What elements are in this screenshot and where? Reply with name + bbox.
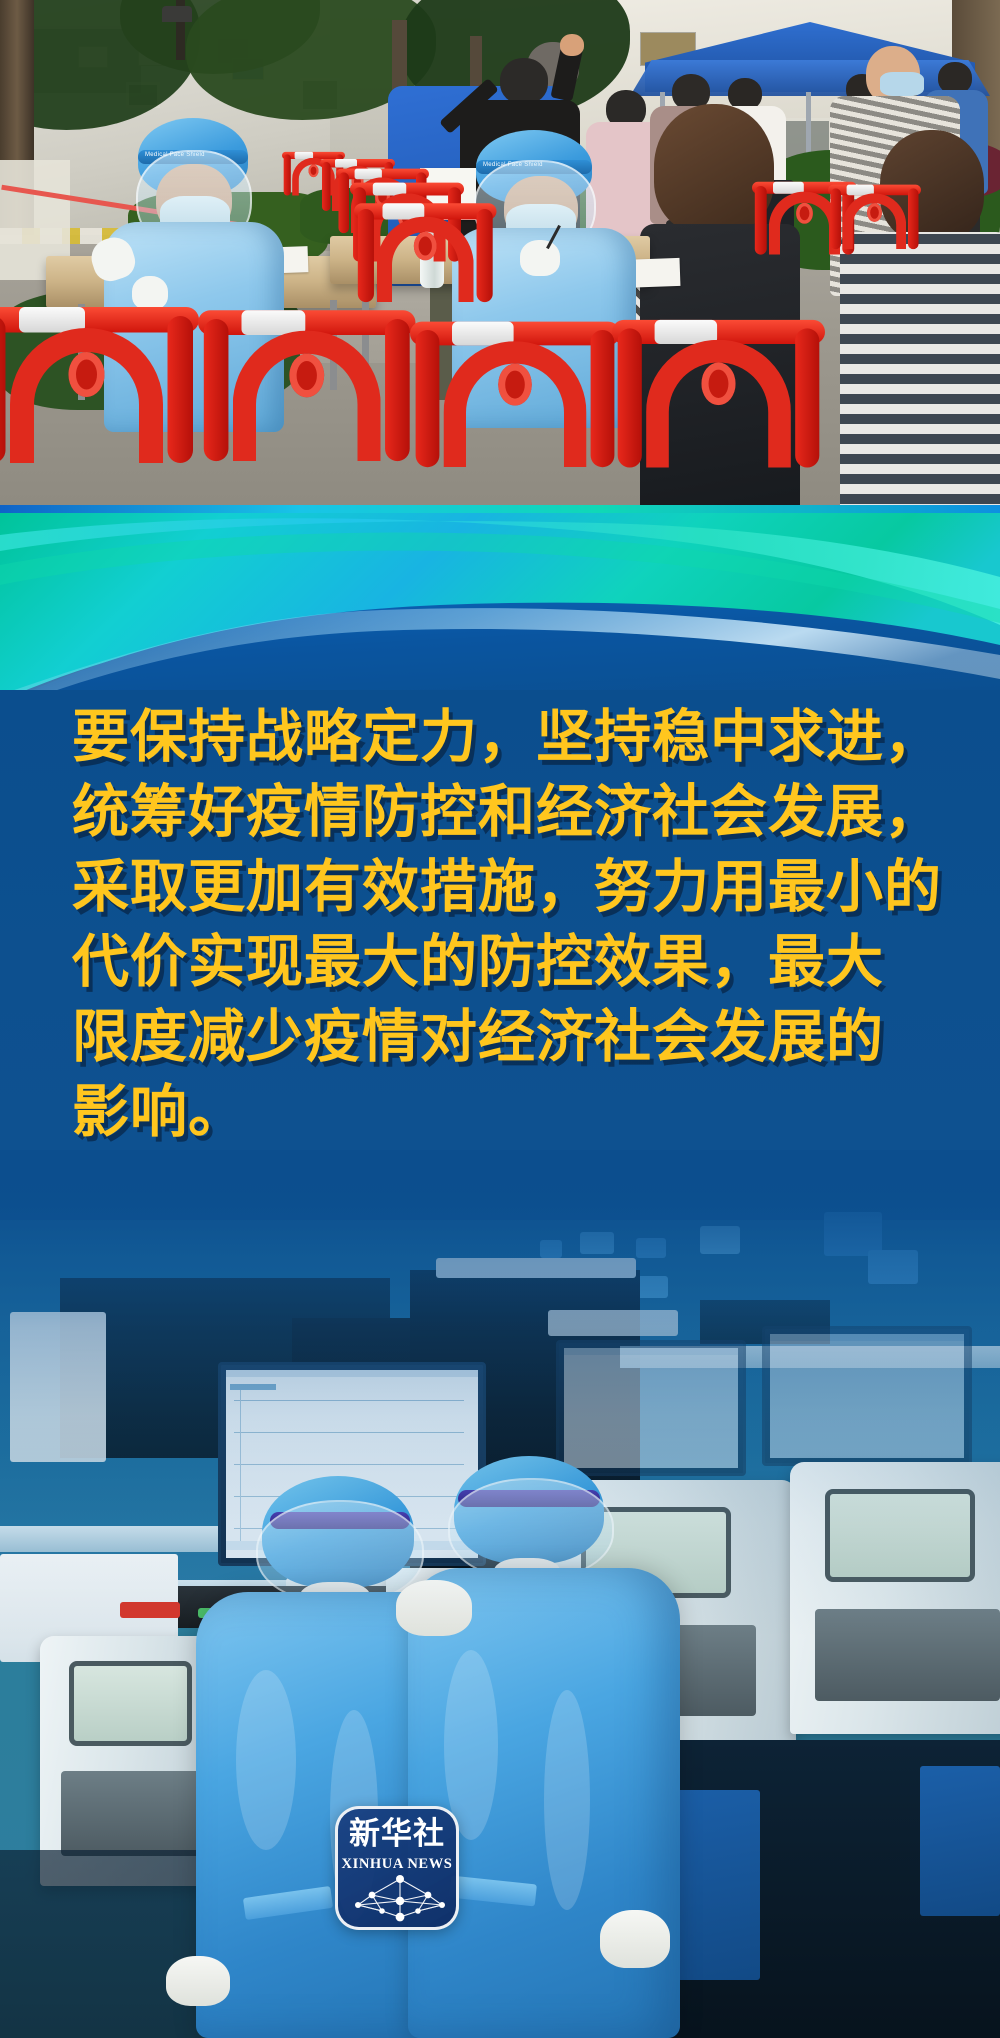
red-crowd-barrier bbox=[828, 176, 921, 249]
quote-line: 代价实现最大的防控效果，最大 bbox=[72, 925, 952, 1000]
quote-line: 影响。 bbox=[72, 1075, 952, 1150]
bottom-photo-pcr-laboratory bbox=[0, 1150, 1000, 2038]
red-crowd-barrier bbox=[612, 300, 825, 468]
xinhua-news-logo: 新华社 XINHUA NEWS bbox=[335, 1806, 459, 1930]
quote-line: 要保持战略定力，坚持稳中求进， bbox=[72, 700, 952, 775]
quote-text-block: 要保持战略定力，坚持稳中求进， 统筹好疫情防控和经济社会发展， 采取更加有效措施… bbox=[72, 700, 952, 1150]
red-crowd-barrier bbox=[0, 286, 199, 463]
quote-line: 统筹好疫情防控和经济社会发展， bbox=[72, 775, 952, 850]
logo-chinese-name: 新华社 bbox=[338, 1817, 456, 1851]
network-nodes-icon bbox=[342, 1871, 458, 1929]
red-crowd-barrier bbox=[410, 302, 620, 467]
street-lamp-head bbox=[162, 6, 192, 22]
red-crowd-barrier bbox=[198, 290, 416, 461]
quote-line: 采取更加有效措施，努力用最小的 bbox=[72, 850, 952, 925]
red-crowd-barrier bbox=[354, 190, 497, 302]
top-photo-covid-testing-site: Medical Face Shield Medical Face Shield bbox=[0, 0, 1000, 513]
blue-tint-overlay bbox=[0, 1150, 1000, 2038]
xinhua-news-poster: Medical Face Shield Medical Face Shield bbox=[0, 0, 1000, 2038]
quote-line: 限度减少疫情对经济社会发展的 bbox=[72, 1000, 952, 1075]
